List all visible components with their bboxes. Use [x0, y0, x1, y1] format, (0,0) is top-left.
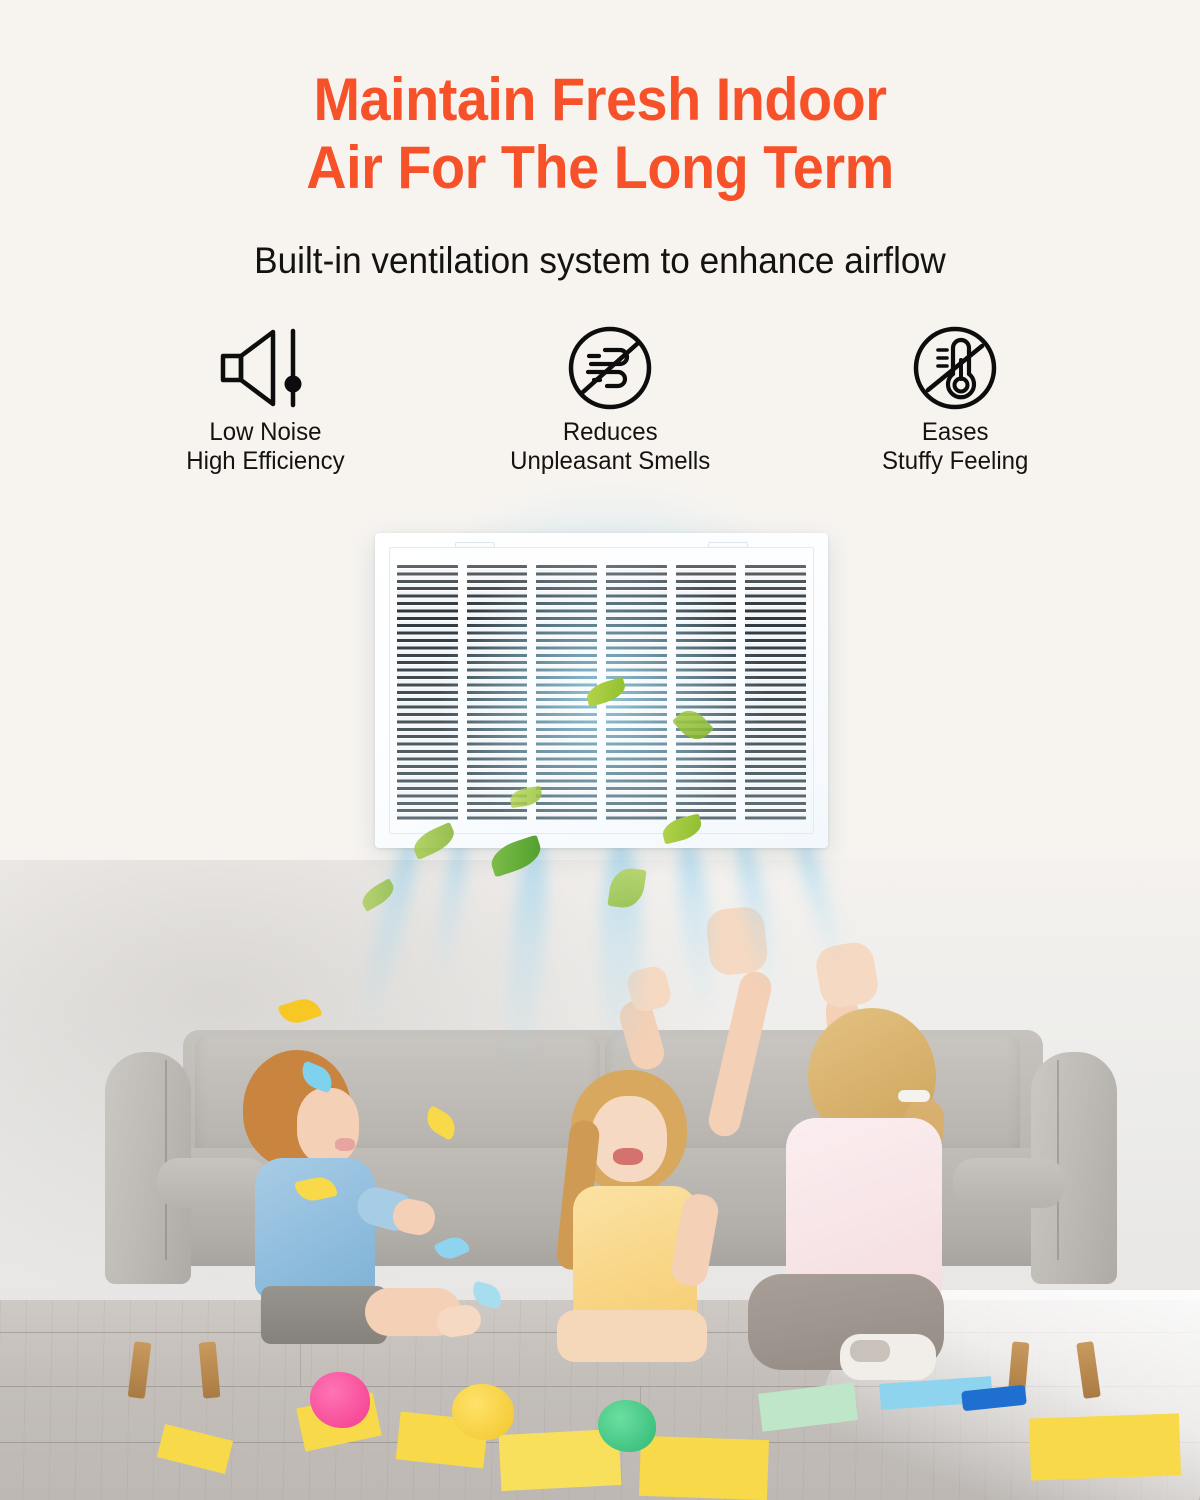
sofa-piping — [1057, 1060, 1059, 1260]
vent-louver-panels — [397, 565, 806, 820]
feature-eases-stuffy-label-2: Stuffy Feeling — [882, 447, 1028, 476]
vent-louver-column — [397, 565, 458, 820]
vent-latch-tab — [455, 542, 495, 548]
feature-row: Low Noise High Efficiency Reduc — [100, 322, 1120, 492]
crumpled-paper-ball — [598, 1400, 656, 1452]
no-stuffy-thermometer-icon — [909, 322, 1001, 414]
feature-reduces-smells-label: Reduces Unpleasant Smells — [510, 418, 710, 476]
vent-louver-column — [467, 565, 528, 820]
paper-sheet — [1029, 1413, 1181, 1480]
feature-low-noise-label: Low Noise High Efficiency — [186, 418, 344, 476]
feature-low-noise: Low Noise High Efficiency — [100, 322, 430, 476]
sofa-leg — [199, 1341, 221, 1398]
vent-louver-column — [536, 565, 597, 820]
vent-latch-tab — [708, 542, 748, 548]
return-air-filter-grille — [375, 533, 828, 848]
child-boy-blue-shirt — [225, 1050, 485, 1370]
crumpled-paper-ball — [452, 1384, 514, 1440]
feature-reduces-smells: Reduces Unpleasant Smells — [445, 322, 775, 476]
page-subheadline: Built-in ventilation system to enhance a… — [30, 238, 1170, 284]
room-scene — [0, 860, 1200, 1500]
vent-louver-column — [676, 565, 737, 820]
vent-louver-column — [606, 565, 667, 820]
feature-low-noise-label-2: High Efficiency — [186, 447, 344, 476]
page-headline: Maintain Fresh Indoor Air For The Long T… — [42, 66, 1158, 202]
sofa-piping — [165, 1060, 167, 1260]
vent-louver-column — [745, 565, 806, 820]
paper-sheet — [639, 1436, 769, 1500]
headline-line-1: Maintain Fresh Indoor — [313, 66, 886, 133]
feature-eases-stuffy-label: Eases Stuffy Feeling — [882, 418, 1028, 476]
feature-eases-stuffy: Eases Stuffy Feeling — [790, 322, 1120, 476]
feature-eases-stuffy-label-1: Eases — [882, 418, 1028, 447]
feature-reduces-smells-label-2: Unpleasant Smells — [510, 447, 710, 476]
feature-low-noise-label-1: Low Noise — [186, 418, 344, 447]
marketing-product-page: Maintain Fresh Indoor Air For The Long T… — [0, 0, 1200, 1500]
crumpled-paper-ball — [310, 1372, 370, 1428]
no-odor-icon — [564, 322, 656, 414]
speaker-volume-icon — [217, 322, 313, 414]
feature-reduces-smells-label-1: Reduces — [510, 418, 710, 447]
headline-line-2: Air For The Long Term — [42, 134, 1158, 202]
child-girl-pink-top-braid — [700, 882, 1020, 1382]
